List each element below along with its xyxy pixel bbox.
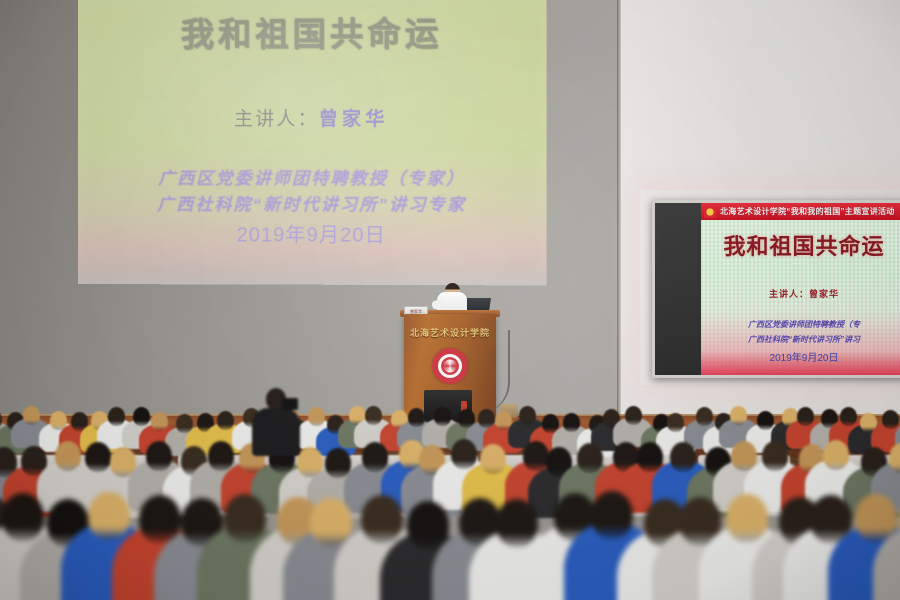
audience-member-head (730, 406, 747, 425)
audience-member-head (146, 441, 172, 471)
audience-member-head (519, 406, 536, 425)
projection-screen: 我和祖国共命运 主讲人：曾家华 广西区党委讲师团特聘教授（专家） 广西社科院“新… (78, 0, 547, 285)
led-unlit-region (655, 203, 701, 375)
led-credential-line-1: 广西区党委讲师团特聘教授（专 (701, 319, 900, 330)
audience-member-head (108, 407, 125, 426)
audience-member-head (85, 442, 111, 472)
led-display-content: ★ 北海艺术设计学院“我和我的祖国”主题宣讲活动 我和祖国共命运 主讲人：曾家华… (701, 203, 900, 375)
audience-member-head (577, 443, 603, 473)
audience-member-head (480, 444, 506, 474)
audience-photographer (246, 386, 306, 456)
audience-member-head (224, 494, 266, 542)
wall-corner-edge (617, 0, 621, 434)
led-banner-text: 北海艺术设计学院“我和我的祖国”主题宣讲活动 (720, 206, 895, 217)
audience-member-head (823, 440, 849, 470)
university-seal-icon (432, 348, 468, 384)
audience-member-head (670, 442, 696, 472)
lecture-hall-photo: 我和祖国共命运 主讲人：曾家华 广西区党委讲师团特聘教授（专家） 广西社科院“新… (0, 0, 900, 600)
audience-member-head (2, 493, 44, 541)
party-emblem-icon: ★ (704, 206, 716, 218)
audience-member-head (591, 491, 633, 539)
audience-member-head (882, 410, 899, 429)
audience-member-head (797, 407, 814, 426)
audience-member-head (625, 406, 642, 425)
audience-member-head (365, 406, 382, 425)
slide-speaker-name: 曾家华 (319, 109, 389, 130)
audience-member-head (762, 441, 788, 471)
audience-area (0, 404, 900, 600)
audience-member-head (496, 499, 538, 547)
slide-credential-line-2: 广西社科院“新时代讲习所”讲习专家 (78, 190, 547, 216)
led-speaker-line: 主讲人：曾家华 (701, 287, 900, 300)
audience-member-head (133, 407, 150, 426)
audience-member-head (23, 406, 40, 425)
audience-member-head (696, 407, 713, 426)
audience-member-head (208, 441, 234, 471)
camera-icon (282, 398, 298, 410)
audience-member-head (88, 492, 130, 540)
slide-credential-line-1: 广西区党委讲师团特聘教授（专家） (78, 164, 547, 189)
audience-member-head (757, 411, 774, 430)
audience-member-head (217, 411, 234, 430)
audience-member-head (151, 412, 168, 431)
led-display-panel: ★ 北海艺术设计学院“我和我的祖国”主题宣讲活动 我和祖国共命运 主讲人：曾家华… (652, 200, 900, 378)
audience-member-head (362, 442, 388, 472)
audience-member-head (407, 501, 449, 549)
photographer-body (252, 408, 300, 456)
slide-title: 我和祖国共命运 (78, 7, 547, 56)
audience-member-head (408, 408, 425, 427)
audience-row-near (0, 496, 900, 600)
led-slide-title: 我和祖国共命运 (701, 229, 900, 261)
audience-member-head (667, 413, 684, 432)
led-slide-date: 2019年9月20日 (701, 349, 900, 364)
audience-member-head (361, 495, 403, 543)
slide-date: 2019年9月20日 (78, 218, 547, 248)
audience-member-head (523, 441, 549, 471)
audience-member-head (434, 407, 451, 426)
slide-speaker-line: 主讲人：曾家华 (78, 104, 547, 131)
led-credential-line-2: 广西社科院“新时代讲习所”讲习 (701, 334, 900, 345)
audience-member-head (451, 439, 477, 469)
audience-member-head (308, 407, 325, 426)
audience-member-head (726, 494, 768, 542)
slide-speaker-label: 主讲人： (234, 109, 319, 130)
led-banner-bar: ★ 北海艺术设计学院“我和我的祖国”主题宣讲活动 (701, 203, 900, 220)
